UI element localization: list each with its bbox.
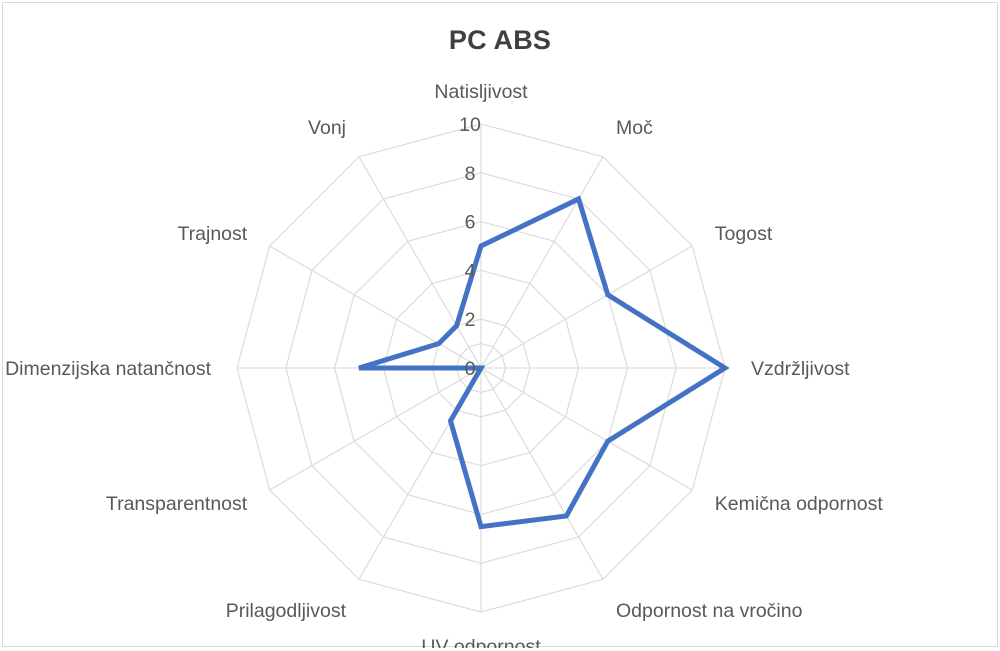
axis-label-1: Moč xyxy=(616,117,653,139)
grid-spoke-8 xyxy=(270,368,481,490)
axis-label-9: Dimenzijska natančnost xyxy=(5,358,212,380)
radar-tick-labels: 0246810 xyxy=(459,114,481,380)
axis-label-3: Vzdržljivost xyxy=(751,358,850,380)
axis-label-4: Kemična odpornost xyxy=(715,493,884,515)
grid-spoke-10 xyxy=(270,246,481,368)
tick-label-2: 2 xyxy=(465,309,476,331)
axis-label-6: UV odpornost xyxy=(421,636,541,648)
axis-label-11: Vonj xyxy=(308,117,346,139)
tick-label-4: 4 xyxy=(465,260,476,282)
axis-label-2: Togost xyxy=(715,223,773,245)
radar-chart-plot: 0246810 NatisljivostMočTogostVzdržljivos… xyxy=(3,3,999,648)
tick-label-6: 6 xyxy=(465,212,476,234)
grid-spoke-2 xyxy=(481,246,692,368)
grid-spoke-1 xyxy=(481,157,603,368)
axis-label-5: Odpornost na vročino xyxy=(616,600,803,622)
tick-label-10: 10 xyxy=(459,114,481,136)
chart-frame: PC ABS 0246810 NatisljivostMočTogostVzdr… xyxy=(2,2,998,647)
tick-label-0: 0 xyxy=(465,358,476,380)
grid-spoke-11 xyxy=(359,157,481,368)
axis-label-0: Natisljivost xyxy=(434,81,528,103)
radar-axis-labels: NatisljivostMočTogostVzdržljivostKemična… xyxy=(5,81,883,648)
axis-label-10: Trajnost xyxy=(177,223,247,245)
axis-label-7: Prilagodljivost xyxy=(226,600,347,622)
grid-spoke-5 xyxy=(481,368,603,579)
tick-label-8: 8 xyxy=(465,163,476,185)
axis-label-8: Transparentnost xyxy=(106,493,248,515)
grid-spoke-4 xyxy=(481,368,692,490)
